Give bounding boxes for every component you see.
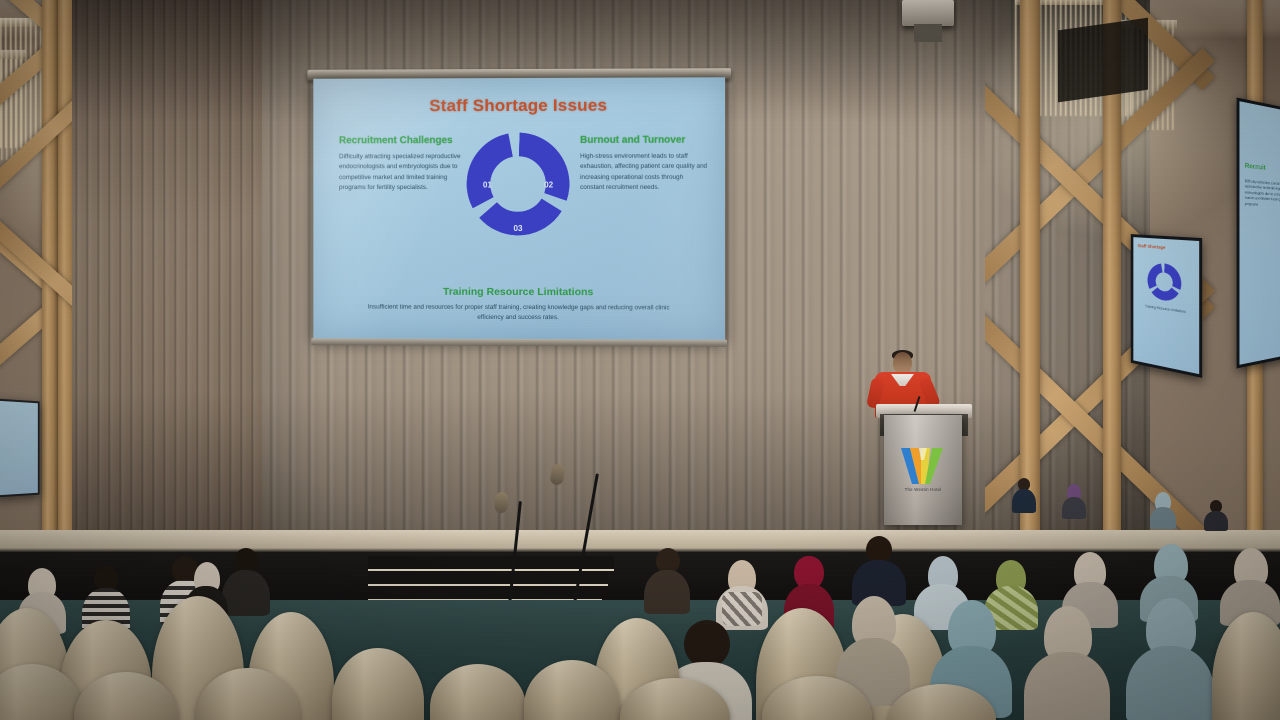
slide-body-training: Insufficient time and resources for prop… <box>313 302 725 324</box>
conference-room-photo: Staff Shortage Issues Recruitment Challe… <box>0 0 1280 720</box>
attendee <box>852 536 906 602</box>
attendee <box>1150 492 1176 526</box>
stage-curtain-left <box>72 0 262 560</box>
slide-body-burnout: High-stress environment leads to staff e… <box>580 152 709 194</box>
projector-mount <box>914 24 942 42</box>
attendee-front <box>1024 606 1110 720</box>
attendee <box>1204 500 1228 530</box>
slide-column-right: Burnout and Turnover High-stress environ… <box>580 135 709 194</box>
side-screen-lower-heading: Staff Shortage <box>1138 243 1166 250</box>
donut-chart: 01 02 03 <box>464 130 572 238</box>
donut-label-03: 03 <box>514 224 524 233</box>
slide-heading-recruitment: Recruitment Challenges <box>339 135 466 146</box>
attendee <box>222 548 270 612</box>
multicolor-v-logo <box>899 446 947 486</box>
slide-bottom-block: Training Resource Limitations Insufficie… <box>313 285 725 324</box>
attendee <box>644 548 690 612</box>
donut-label-02: 02 <box>544 181 554 190</box>
side-screen-upper-heading: Recruit <box>1245 162 1266 171</box>
side-screen-donut <box>1147 261 1182 303</box>
attendee-front <box>1126 598 1214 720</box>
side-screen-upper-right: Recruit Difficulty attracting specialize… <box>1237 98 1280 369</box>
podium-logo-caption: The Westin Hotel <box>893 487 953 492</box>
slide-column-left: Recruitment Challenges Difficulty attrac… <box>339 135 466 193</box>
attendee <box>1220 548 1280 622</box>
side-screen-lower-right: Staff Shortage Training Resource Limitat… <box>1131 234 1202 378</box>
attendee <box>82 566 130 628</box>
slide-title: Staff Shortage Issues <box>313 95 725 116</box>
ceiling-projector <box>902 0 954 26</box>
slide-surface: Staff Shortage Issues Recruitment Challe… <box>313 77 725 340</box>
side-screen-lower-body: Training Resource Limitations <box>1138 303 1195 316</box>
side-screen-upper-body: Difficulty attracting specialized reprod… <box>1245 179 1280 209</box>
slide-body-recruitment: Difficulty attracting specialized reprod… <box>339 152 466 193</box>
ceiling-speaker-box <box>1058 18 1148 103</box>
attendee <box>1062 484 1086 516</box>
slide-heading-training: Training Resource Limitations <box>313 285 725 298</box>
donut-label-01: 01 <box>483 181 492 190</box>
slide-heading-burnout: Burnout and Turnover <box>580 135 709 146</box>
projection-screen: Staff Shortage Issues Recruitment Challe… <box>313 77 725 340</box>
attendee <box>716 560 768 626</box>
side-screen-far-left <box>0 399 40 498</box>
attendee <box>1012 478 1036 512</box>
